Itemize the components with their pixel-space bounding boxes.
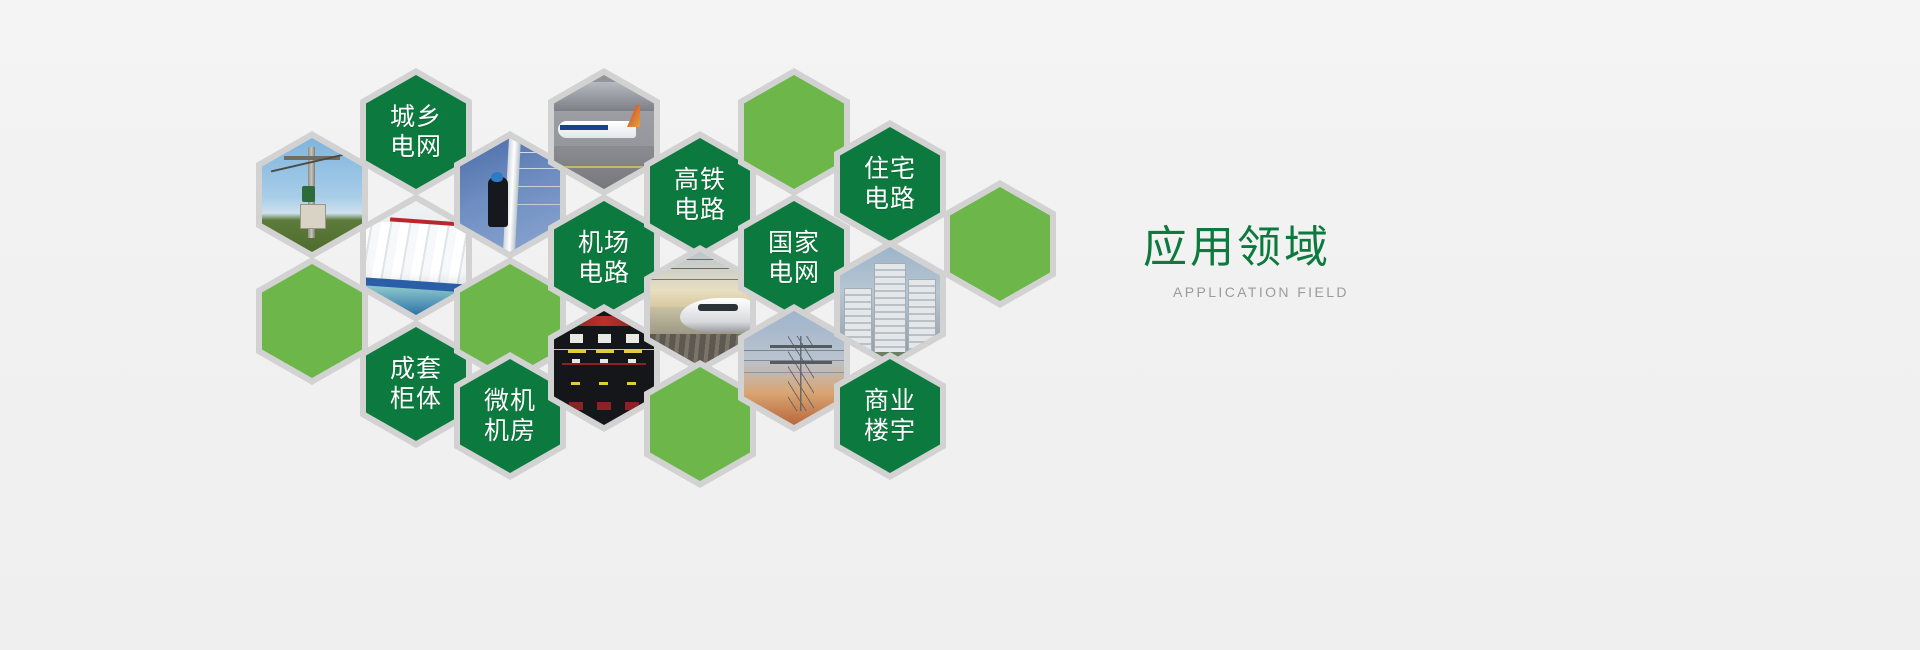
hex-accent-5[interactable] bbox=[944, 180, 1056, 308]
hex-label: 住宅 电路 bbox=[864, 154, 916, 214]
hex-face bbox=[554, 75, 654, 189]
hex-face-labelled: 城乡 电网 bbox=[366, 75, 466, 189]
hex-face bbox=[460, 138, 560, 252]
hex-label: 城乡 电网 bbox=[390, 102, 442, 162]
hex-face bbox=[554, 311, 654, 425]
rural-power-pole-image bbox=[262, 138, 362, 252]
page-subtitle: APPLICATION FIELD bbox=[1173, 284, 1349, 300]
hex-label: 微机 机房 bbox=[484, 386, 536, 446]
sunset-transmission-towers-image bbox=[744, 311, 844, 425]
dark-switchgear-panels-image bbox=[554, 311, 654, 425]
hex-label: 商业 楼宇 bbox=[864, 386, 916, 446]
heading-block: 应用领域 APPLICATION FIELD bbox=[1143, 222, 1349, 300]
hex-label-home-circuit[interactable]: 住宅 电路 bbox=[834, 120, 946, 248]
high-speed-train-image bbox=[650, 252, 750, 366]
hex-face bbox=[650, 367, 750, 481]
hex-label: 机场 电路 bbox=[578, 228, 630, 288]
hex-face bbox=[744, 311, 844, 425]
hex-face-labelled: 成套 柜体 bbox=[366, 327, 466, 441]
white-switchgear-row-image bbox=[366, 201, 466, 315]
hex-accent-1[interactable] bbox=[256, 257, 368, 385]
residential-towers-image bbox=[840, 247, 940, 361]
hex-face-labelled: 机场 电路 bbox=[554, 201, 654, 315]
hex-face bbox=[744, 75, 844, 189]
hex-photo-residential[interactable] bbox=[834, 240, 946, 368]
hex-face bbox=[950, 187, 1050, 301]
hex-face-labelled: 国家 电网 bbox=[744, 201, 844, 315]
hex-face bbox=[262, 264, 362, 378]
hex-label: 高铁 电路 bbox=[674, 165, 726, 225]
hex-label: 国家 电网 bbox=[768, 228, 820, 288]
lineman-on-mast-image bbox=[460, 138, 560, 252]
airport-apron-aircraft-image bbox=[554, 75, 654, 189]
page-title: 应用领域 bbox=[1143, 222, 1349, 274]
hex-face-labelled: 微机 机房 bbox=[460, 359, 560, 473]
hex-label-commercial-bldg[interactable]: 商业 楼宇 bbox=[834, 352, 946, 480]
hex-label: 成套 柜体 bbox=[390, 354, 442, 414]
hex-face bbox=[840, 247, 940, 361]
hex-face bbox=[650, 252, 750, 366]
hex-face bbox=[262, 138, 362, 252]
hex-face-labelled: 商业 楼宇 bbox=[840, 359, 940, 473]
hex-face-labelled: 高铁 电路 bbox=[650, 138, 750, 252]
hex-photo-power-pole[interactable] bbox=[256, 131, 368, 259]
application-field-banner: 城乡 电网成套 柜体微机 机房机场 电路高铁 电路国家 电网住宅 电路商业 楼宇… bbox=[0, 0, 1920, 650]
hex-face bbox=[366, 201, 466, 315]
hex-face-labelled: 住宅 电路 bbox=[840, 127, 940, 241]
